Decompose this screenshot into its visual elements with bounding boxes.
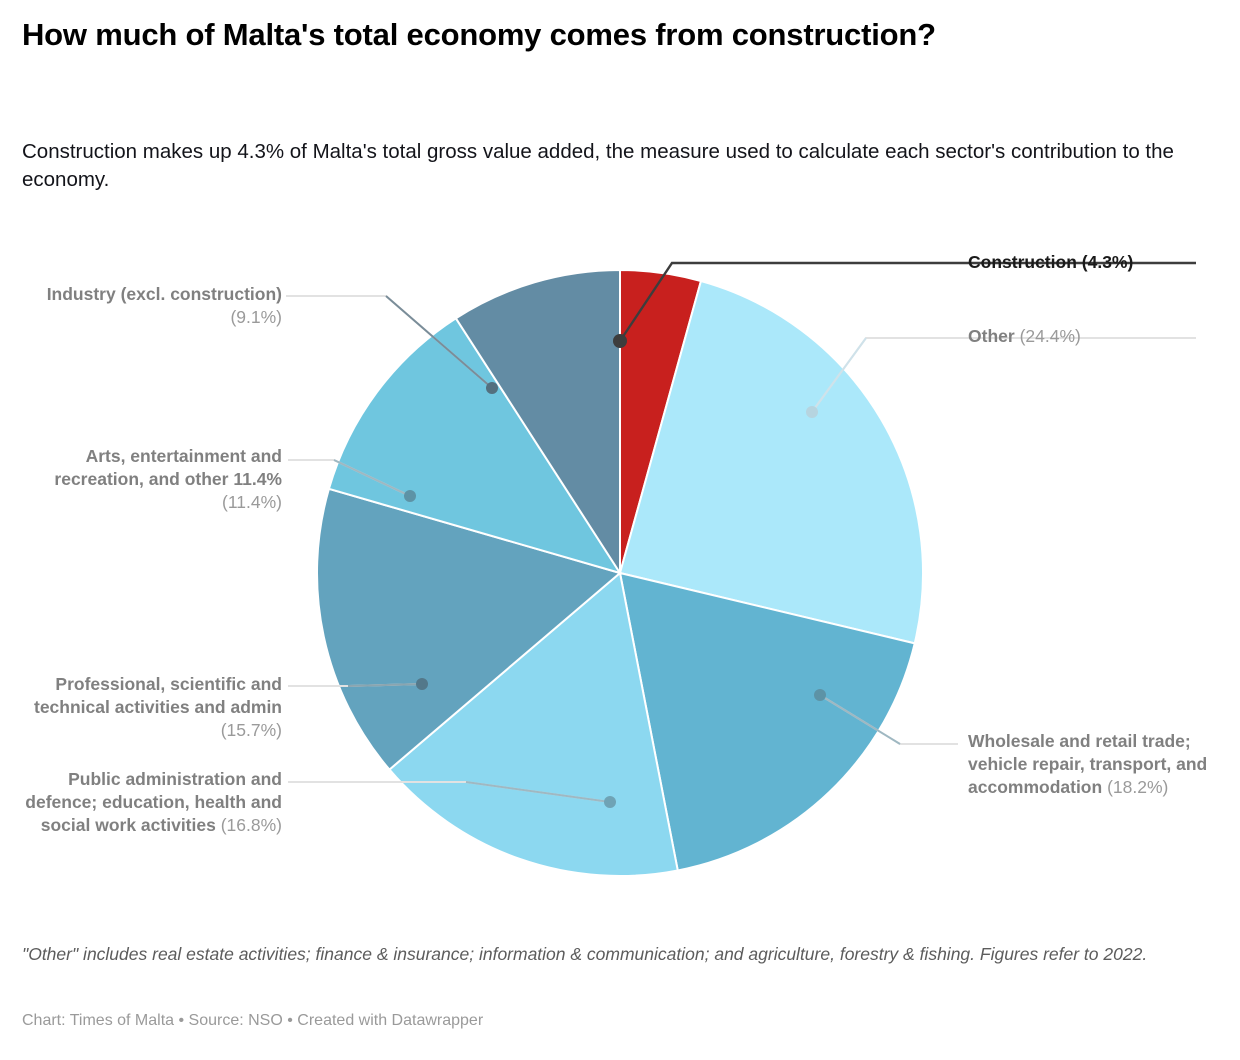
pie-label-arts: Arts, entertainment and recreation, and …: [22, 445, 282, 514]
connector-other: [812, 338, 1196, 412]
pie-slice[interactable]: [620, 573, 915, 870]
pie-slice[interactable]: [317, 489, 620, 770]
pie-slice[interactable]: [329, 318, 620, 573]
pie-label-construction-name: Construction: [968, 252, 1077, 272]
connector-dot-professional: [416, 678, 428, 690]
connector-dot-industry: [486, 382, 498, 394]
pie-label-other-name: Other: [968, 326, 1015, 346]
chart-attribution: Chart: Times of Malta • Source: NSO • Cr…: [22, 1012, 1222, 1030]
pie-label-wholesale-name: Wholesale and retail trade; vehicle repa…: [968, 731, 1207, 797]
pie-label-industry-pct: (9.1%): [230, 307, 282, 327]
pie-label-wholesale-pct: (18.2%): [1107, 777, 1168, 797]
chart-footnote: "Other" includes real estate activities;…: [22, 942, 1222, 966]
pie-label-other-pct: (24.4%): [1020, 326, 1081, 346]
connector-dot-wholesale: [814, 689, 826, 701]
connector-public-stub: [466, 782, 610, 802]
pie-label-public-pct: (16.8%): [221, 815, 282, 835]
connector-industry-stub: [386, 296, 492, 388]
pie-label-arts-name: Arts, entertainment and recreation, and …: [54, 446, 282, 489]
connector-industry: [286, 296, 492, 388]
pie-label-industry-name: Industry (excl. construction): [47, 284, 282, 304]
pie-label-public: Public administration and defence; educa…: [14, 768, 282, 837]
connector-dot-arts: [404, 490, 416, 502]
pie-label-other: Other (24.4%): [968, 325, 1230, 348]
pie-slice[interactable]: [389, 573, 677, 876]
connector-dot-construction: [613, 334, 627, 348]
connector-dot-other: [806, 406, 818, 418]
connector-other-stub: [812, 338, 866, 412]
pie-slice[interactable]: [456, 270, 620, 573]
connector-wholesale-stub: [820, 695, 900, 744]
pie-slice[interactable]: [620, 281, 923, 643]
pie-slice[interactable]: [620, 270, 701, 573]
pie-slice-group: [317, 270, 923, 876]
pie-label-professional: Professional, scientific and technical a…: [14, 673, 282, 742]
pie-label-arts-pct: (11.4%): [222, 492, 282, 512]
connector-arts: [288, 460, 410, 496]
pie-label-construction: Construction (4.3%): [968, 251, 1230, 274]
pie-label-industry: Industry (excl. construction) (9.1%): [30, 283, 282, 329]
page-subtitle: Construction makes up 4.3% of Malta's to…: [22, 138, 1202, 193]
connector-wholesale: [820, 695, 958, 744]
connector-professional-stub: [348, 684, 422, 686]
pie-label-wholesale: Wholesale and retail trade; vehicle repa…: [968, 730, 1218, 799]
pie-label-construction-pct: (4.3%): [1082, 252, 1134, 272]
page-title: How much of Malta's total economy comes …: [22, 16, 1022, 54]
connector-public: [288, 782, 610, 802]
connector-dot-public: [604, 796, 616, 808]
chart-page: How much of Malta's total economy comes …: [0, 0, 1240, 1060]
connector-professional: [288, 684, 422, 686]
pie-label-professional-pct: (15.7%): [221, 720, 282, 740]
pie-label-professional-name: Professional, scientific and technical a…: [34, 674, 282, 717]
connector-arts-stub: [334, 460, 410, 496]
